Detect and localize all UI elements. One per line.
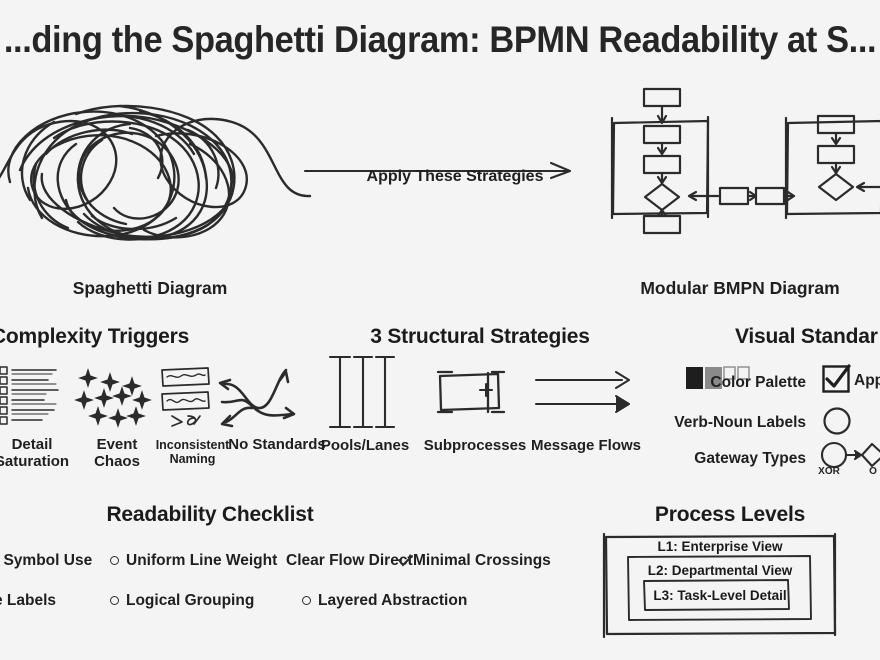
visual-row-right-label-0: App bbox=[854, 372, 880, 390]
spaghetti-diagram-illustration bbox=[0, 78, 300, 263]
modular-bpmn-illustration bbox=[590, 80, 880, 265]
page-title: ...ding the Spaghetti Diagram: BPMN Read… bbox=[0, 14, 880, 66]
checklist-item-4: Clear Flow Direct bbox=[286, 552, 413, 570]
checkbox-checked-icon bbox=[822, 365, 850, 393]
section-heading-levels: Process Levels bbox=[620, 503, 840, 527]
three-vertical-lanes-icon bbox=[326, 355, 398, 431]
visual-row-label-0: Color Palette bbox=[596, 374, 806, 392]
process-level-3-label: L3: Task-Level Detail bbox=[602, 588, 838, 603]
section-heading-visual: Visual Standar bbox=[735, 325, 880, 349]
visual-row-label-1: Verb-Noun Labels bbox=[596, 414, 806, 432]
process-level-1-label: L1: Enterprise View bbox=[602, 539, 838, 554]
process-level-2-label: L2: Departmental View bbox=[602, 563, 838, 578]
checklist-item-2: Uniform Line Weight bbox=[110, 552, 277, 570]
checklist-item-5: Layered Abstraction bbox=[302, 592, 467, 610]
gateway-tag-xor: XOR bbox=[812, 466, 846, 477]
checklist-item-3-label: Logical Grouping bbox=[126, 592, 254, 609]
checkbox-list-lines-icon bbox=[0, 365, 64, 427]
page-title-text: ...ding the Spaghetti Diagram: BPMN Read… bbox=[4, 19, 876, 61]
section-heading-complexity: Complexity Triggers bbox=[0, 325, 220, 349]
scattered-stars-icon bbox=[76, 368, 154, 426]
checklist-item-2-label: Uniform Line Weight bbox=[126, 552, 277, 569]
checklist-item-0: t Symbol Use bbox=[0, 552, 92, 570]
spaghetti-diagram-caption: Spaghetti Diagram bbox=[0, 278, 300, 299]
modular-bpmn-pools-icon bbox=[590, 80, 880, 265]
small-check-mark-icon bbox=[398, 556, 414, 568]
structural-item-label-0: Pools/Lanes bbox=[310, 438, 420, 455]
visual-row-label-2: Gateway Types bbox=[596, 450, 806, 468]
bullet-icon bbox=[110, 556, 119, 565]
checklist-item-6: Minimal Crossings bbox=[413, 552, 551, 570]
poster-canvas: ...ding the Spaghetti Diagram: BPMN Read… bbox=[0, 0, 880, 660]
transformation-arrow-label: Apply These Strategies bbox=[310, 168, 600, 186]
bullet-icon bbox=[110, 596, 119, 605]
checklist-item-5-label: Layered Abstraction bbox=[318, 592, 467, 609]
gateway-tag-or: O bbox=[860, 466, 880, 477]
checklist-item-1: e Labels bbox=[0, 592, 56, 610]
tangled-spaghetti-lines-icon bbox=[0, 78, 300, 263]
bullet-icon bbox=[302, 596, 311, 605]
scribbled-label-boxes-icon bbox=[160, 366, 222, 428]
section-heading-structural: 3 Structural Strategies bbox=[350, 325, 610, 349]
crossing-squiggly-arrows-icon bbox=[214, 364, 304, 430]
checklist-item-3: Logical Grouping bbox=[110, 592, 254, 610]
modular-bpmn-caption: Modular BMPN Diagram bbox=[590, 278, 880, 299]
section-heading-checklist: Readability Checklist bbox=[80, 503, 340, 527]
circle-event-icon bbox=[822, 406, 852, 436]
complexity-item-label-0: Detail Saturation bbox=[0, 437, 82, 471]
box-with-plus-icon bbox=[436, 370, 508, 416]
structural-item-label-1: Subprocesses bbox=[420, 438, 530, 455]
